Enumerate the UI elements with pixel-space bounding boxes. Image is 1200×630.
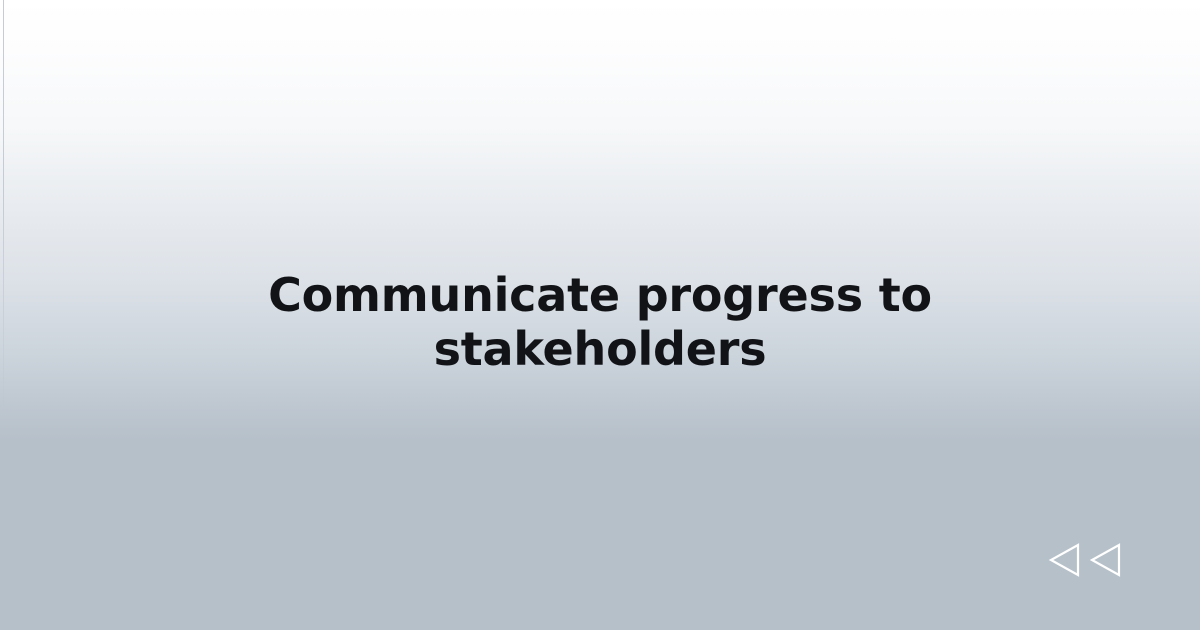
title-block: Communicate progress to stakeholders <box>0 268 1200 376</box>
page-title: Communicate progress to stakeholders <box>140 268 1060 376</box>
triangle-left-icon <box>1089 542 1122 578</box>
navigation-controls[interactable] <box>1048 542 1122 578</box>
triangle-left-icon <box>1048 542 1081 578</box>
rewind-first-button[interactable] <box>1048 542 1081 578</box>
slide-canvas: Communicate progress to stakeholders <box>0 0 1200 630</box>
rewind-second-button[interactable] <box>1089 542 1122 578</box>
